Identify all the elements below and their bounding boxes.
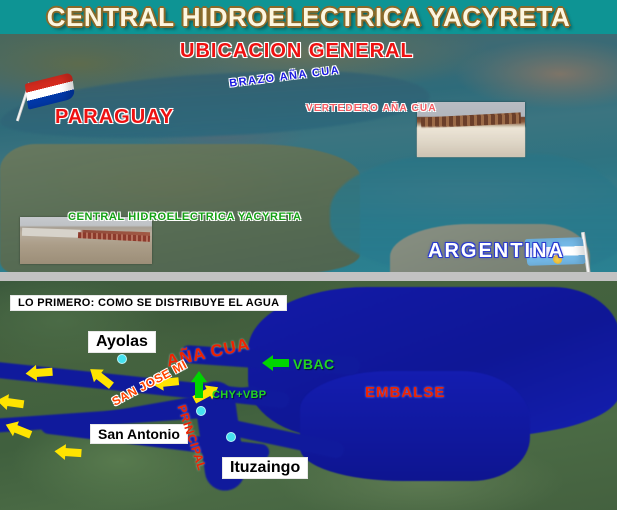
- label-vertedero-ana-cua: VERTEDERO AÑA CUA: [306, 103, 437, 114]
- panel-divider: [0, 272, 617, 281]
- top-satellite-panel: UBICACION GENERAL PARAGUAY BRAZO AÑA CUA…: [0, 34, 617, 272]
- spillway-foam: [417, 127, 525, 157]
- city-marker-san-antonio: [196, 406, 206, 416]
- page-title: CENTRAL HIDROELECTRICA YACYRETA: [0, 0, 617, 34]
- label-san-antonio: San Antonio: [90, 424, 188, 444]
- title-bar: CENTRAL HIDROELECTRICA YACYRETA: [0, 0, 617, 34]
- label-embalse: EMBALSE: [365, 384, 445, 401]
- slide-root: CENTRAL HIDROELECTRICA YACYRETA: [0, 0, 617, 510]
- bottom-map-heading: LO PRIMERO: COMO SE DISTRIBUYE EL AGUA: [10, 295, 287, 311]
- top-map-heading: UBICACION GENERAL: [180, 40, 414, 63]
- label-ayolas: Ayolas: [88, 331, 156, 353]
- powerhouse-photo-inset: [20, 217, 152, 264]
- flag-cloth: [25, 72, 75, 109]
- label-ituzaingo: Ituzaingo: [222, 457, 308, 479]
- city-marker-ayolas: [117, 354, 127, 364]
- city-marker-ituzaingo: [226, 432, 236, 442]
- label-paraguay: PARAGUAY: [55, 106, 174, 129]
- label-vbac: VBAC: [293, 356, 335, 372]
- label-chy-vbp: CHY+VBP: [212, 389, 266, 401]
- label-central-hidroelectrica: CENTRAL HIDROELECTRICA YACYRETA: [68, 211, 302, 223]
- bottom-satellite-panel: LO PRIMERO: COMO SE DISTRIBUYE EL AGUA A…: [0, 281, 617, 510]
- label-argentina: ARGENTINA: [428, 240, 565, 263]
